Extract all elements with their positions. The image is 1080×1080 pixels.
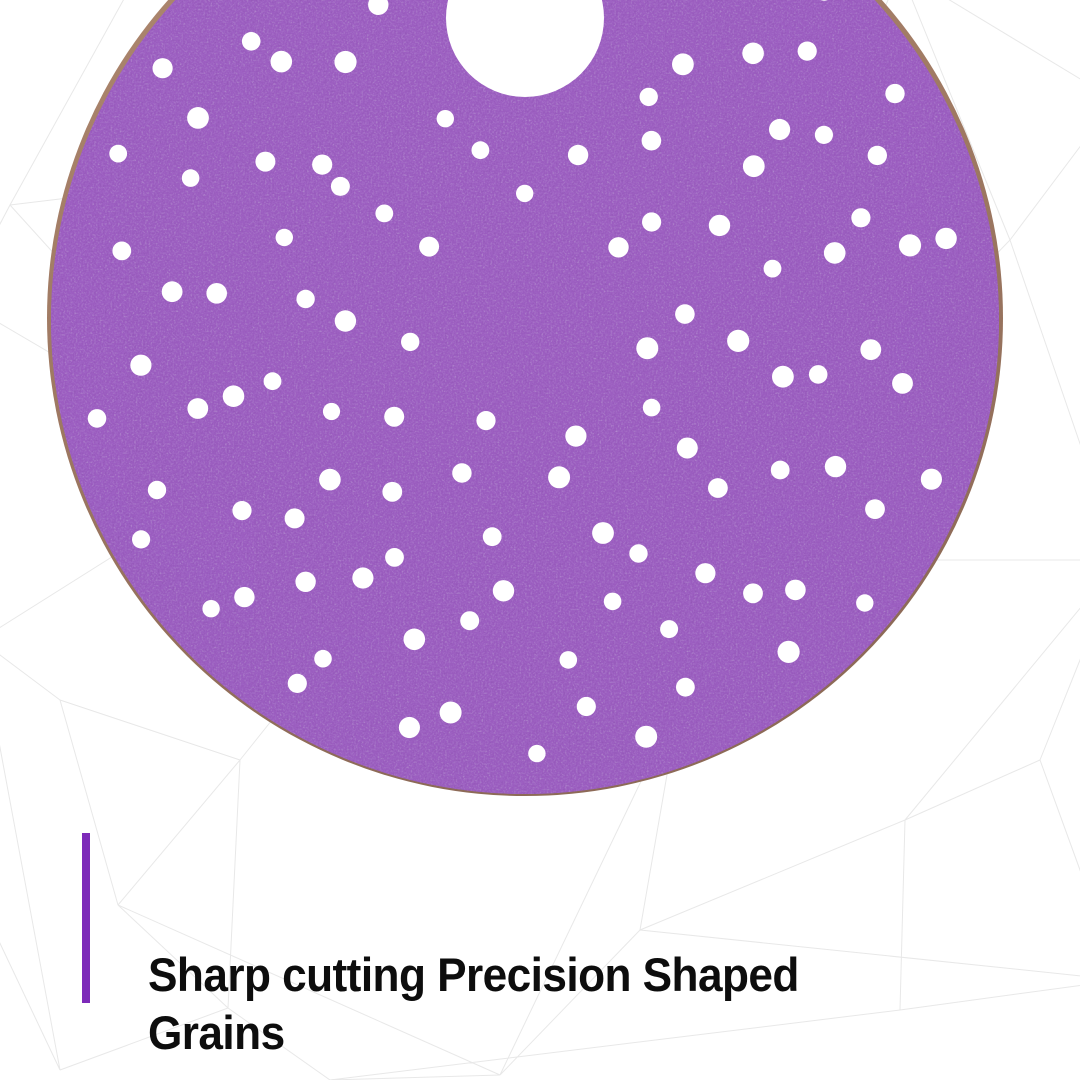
dust-hole <box>604 593 622 611</box>
dust-hole <box>187 107 209 129</box>
dust-hole <box>708 478 728 498</box>
dust-hole <box>182 169 200 187</box>
dust-hole <box>636 337 658 359</box>
dust-hole <box>769 119 790 140</box>
dust-hole <box>319 469 341 491</box>
dust-hole <box>860 339 881 360</box>
dust-hole <box>742 43 764 65</box>
dust-hole <box>460 611 479 630</box>
dust-hole <box>528 745 545 762</box>
dust-hole <box>660 620 678 638</box>
dust-hole <box>162 281 183 302</box>
dust-hole <box>577 697 596 716</box>
dust-hole <box>676 678 695 697</box>
dust-hole <box>153 58 173 78</box>
dust-hole <box>727 330 749 352</box>
dust-hole <box>608 237 628 257</box>
dust-hole <box>385 548 404 567</box>
product-feature-card: Sharp cutting Precision Shaped Grains pr… <box>0 0 1080 1080</box>
dust-hole <box>642 212 661 231</box>
accent-bar <box>82 833 90 1003</box>
dust-hole <box>437 110 454 127</box>
dust-hole <box>935 228 956 249</box>
dust-hole <box>771 461 790 480</box>
dust-hole <box>314 650 332 668</box>
dust-hole <box>88 409 107 428</box>
dust-hole <box>772 366 794 388</box>
dust-hole <box>899 234 921 256</box>
caption-text: Sharp cutting Precision Shaped Grains pr… <box>148 830 932 1080</box>
dust-hole <box>399 717 420 738</box>
dust-hole <box>798 42 817 61</box>
dust-hole <box>109 145 127 163</box>
dust-hole <box>809 365 828 384</box>
dust-hole <box>295 572 315 592</box>
dust-hole <box>242 32 261 51</box>
dust-hole <box>592 522 614 544</box>
dust-hole <box>560 651 578 669</box>
dust-hole <box>476 411 495 430</box>
dust-hole <box>778 641 800 663</box>
dust-hole <box>856 594 873 611</box>
dust-hole <box>323 403 340 420</box>
dust-hole <box>276 229 293 246</box>
dust-hole <box>232 501 251 520</box>
dust-hole <box>312 155 332 175</box>
dust-hole <box>334 51 356 73</box>
dust-hole <box>677 438 698 459</box>
dust-hole <box>695 563 715 583</box>
dust-hole <box>743 155 765 177</box>
dust-hole <box>865 499 885 519</box>
dust-hole <box>331 177 350 196</box>
dust-hole <box>264 372 282 390</box>
dust-hole <box>206 283 227 304</box>
dust-hole <box>640 88 658 106</box>
dust-hole <box>401 333 419 351</box>
dust-hole <box>202 600 219 617</box>
caption-line-1: Sharp cutting Precision Shaped Grains <box>148 946 932 1062</box>
dust-hole <box>288 674 307 693</box>
dust-hole <box>335 310 356 331</box>
dust-hole <box>472 141 490 159</box>
dust-hole <box>851 208 870 227</box>
dust-hole <box>352 567 373 588</box>
dust-hole <box>375 205 393 223</box>
dust-hole <box>404 629 426 651</box>
dust-hole <box>384 407 404 427</box>
dust-hole <box>785 580 806 601</box>
dust-hole <box>921 469 942 490</box>
dust-hole <box>824 242 846 264</box>
dust-hole <box>642 131 662 151</box>
dust-hole <box>255 152 275 172</box>
dust-hole <box>675 304 695 324</box>
dust-hole <box>643 399 661 417</box>
dust-hole <box>419 237 439 257</box>
dust-hole <box>483 527 502 546</box>
dust-hole <box>132 530 150 548</box>
dust-hole <box>493 580 514 601</box>
dust-hole <box>130 355 151 376</box>
dust-hole <box>892 373 913 394</box>
dust-hole <box>825 456 846 477</box>
dust-hole <box>885 84 904 103</box>
dust-hole <box>565 426 586 447</box>
dust-hole <box>440 702 462 724</box>
dust-hole <box>709 215 730 236</box>
dust-hole <box>815 126 833 144</box>
dust-hole <box>568 145 588 165</box>
dust-hole <box>234 587 254 607</box>
dust-hole <box>743 583 763 603</box>
dust-hole <box>271 51 293 73</box>
dust-hole <box>187 398 208 419</box>
dust-hole <box>635 726 657 748</box>
dust-hole <box>382 482 402 502</box>
dust-hole <box>672 53 694 75</box>
dust-hole <box>112 242 131 261</box>
dust-hole <box>223 385 245 407</box>
dust-hole <box>148 481 166 499</box>
dust-hole <box>629 544 647 562</box>
dust-hole <box>868 146 887 165</box>
dust-hole <box>452 463 471 482</box>
dust-hole <box>516 185 533 202</box>
dust-hole <box>764 260 782 278</box>
caption-block: Sharp cutting Precision Shaped Grains pr… <box>82 833 982 1005</box>
dust-hole <box>548 466 570 488</box>
dust-hole <box>296 290 314 308</box>
dust-hole <box>285 508 305 528</box>
